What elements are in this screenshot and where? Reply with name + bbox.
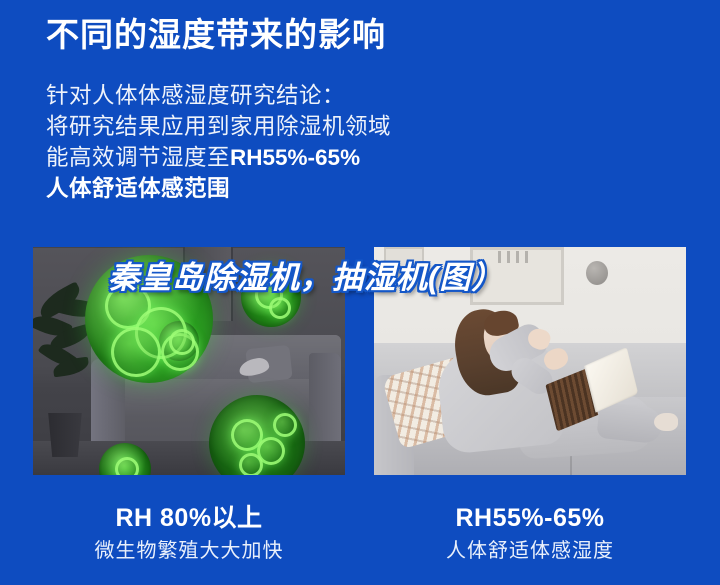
header: 不同的湿度带来的影响 xyxy=(46,12,686,58)
panel-high-humidity-photo xyxy=(33,247,345,475)
caption-high-humidity-desc: 微生物繁殖大大加快 xyxy=(33,536,345,566)
page-title: 不同的湿度带来的影响 xyxy=(46,12,686,58)
dark-sofa-seat xyxy=(97,379,335,417)
humidity-range-highlight: RH55%-65% xyxy=(230,145,360,170)
microbe-cell xyxy=(115,457,139,475)
wall-hooks xyxy=(498,251,532,263)
intro-block: 针对人体体感湿度研究结论： 将研究结果应用到家用除湿机领域 能高效调节湿度至RH… xyxy=(46,80,686,204)
dark-sofa-arm-right xyxy=(309,353,341,445)
microbe-cell xyxy=(111,327,161,377)
caption-comfort-humidity-desc: 人体舒适体感湿度 xyxy=(374,536,686,566)
image-panels xyxy=(0,247,720,477)
poster-root: 不同的湿度带来的影响 针对人体体感湿度研究结论： 将研究结果应用到家用除湿机领域… xyxy=(0,0,720,585)
microbe-cell xyxy=(269,297,291,319)
caption-high-humidity: RH 80%以上 微生物繁殖大大加快 xyxy=(33,500,345,566)
woman-figure xyxy=(432,309,642,457)
wall-frame-small xyxy=(384,247,424,281)
dark-room-scene xyxy=(33,247,345,475)
caption-comfort-humidity-value: RH55%-65% xyxy=(374,500,686,536)
caption-high-humidity-value: RH 80%以上 xyxy=(33,500,345,536)
microbe-cell xyxy=(239,453,263,475)
intro-line-4: 人体舒适体感范围 xyxy=(46,173,686,204)
intro-line-3-prefix: 能高效调节湿度至 xyxy=(46,145,230,170)
intro-line-1: 针对人体体感湿度研究结论： xyxy=(46,80,686,111)
panel-captions: RH 80%以上 微生物繁殖大大加快 RH55%-65% 人体舒适体感湿度 xyxy=(0,500,720,585)
caption-comfort-humidity: RH55%-65% 人体舒适体感湿度 xyxy=(374,500,686,566)
microbe-cell xyxy=(169,329,195,355)
panel-comfort-humidity-photo xyxy=(374,247,686,475)
microbe-cell xyxy=(273,413,297,437)
intro-line-3: 能高效调节湿度至RH55%-65% xyxy=(46,142,686,173)
wall-knob xyxy=(586,261,608,285)
intro-line-2: 将研究结果应用到家用除湿机领域 xyxy=(46,111,686,142)
light-room-scene xyxy=(374,247,686,475)
woman-foot xyxy=(654,413,678,431)
